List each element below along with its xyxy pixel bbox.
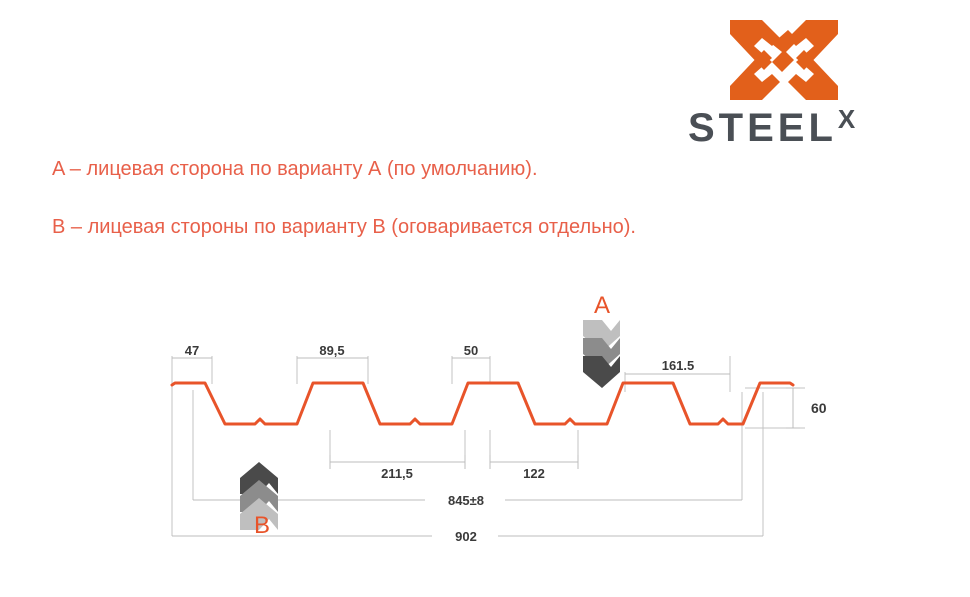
- dimension-label-845: 845±8: [448, 493, 484, 508]
- profile-cross-section-path: [172, 383, 793, 424]
- marker-b-label: B: [246, 512, 278, 540]
- dimension-bar-60: [786, 388, 800, 428]
- dimension-bars-top: [172, 358, 730, 374]
- page-root: STEEL X A – лицевая сторона по варианту …: [0, 0, 970, 597]
- dimension-label-902: 902: [455, 529, 477, 544]
- profile-technical-drawing: 47 89,5 50 161.5 211,5 122 845±8 902: [0, 0, 970, 597]
- marker-a-label: A: [586, 292, 618, 320]
- dimension-label-47: 47: [185, 343, 199, 358]
- dimension-label-161-5: 161.5: [662, 358, 695, 373]
- dimension-label-122: 122: [523, 466, 545, 481]
- dimension-label-89-5: 89,5: [319, 343, 344, 358]
- dimension-label-211-5: 211,5: [381, 466, 413, 481]
- dimension-label-60: 60: [811, 400, 827, 416]
- dimension-label-50: 50: [464, 343, 478, 358]
- marker-a-chevrons-icon: [583, 320, 620, 388]
